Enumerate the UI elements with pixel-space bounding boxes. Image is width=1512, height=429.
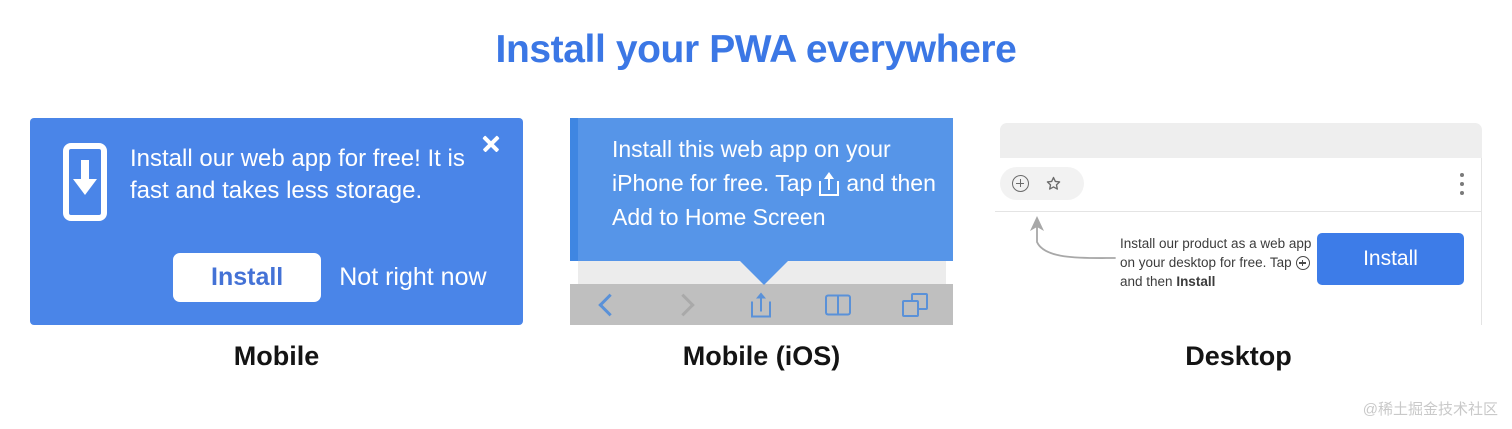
plus-circle-icon[interactable] [1012, 175, 1029, 192]
ios-tooltip: Install this web app on your iPhone for … [570, 118, 953, 261]
phone-download-icon [57, 143, 113, 227]
desktop-install-prompt: Install our product as a web app on your… [995, 212, 1482, 325]
page-title: Install your PWA everywhere [0, 28, 1512, 72]
curved-arrow-icon [1015, 214, 1120, 274]
mobile-banner-message: Install our web app for free! It is fast… [130, 143, 490, 207]
desktop-prompt-text-part2: and then [1120, 274, 1176, 289]
desktop-prompt-text: Install our product as a web app on your… [1120, 234, 1320, 291]
ios-gap-right [946, 261, 953, 284]
mobile-banner-actions: Install Not right now [173, 253, 487, 302]
forward-icon [647, 284, 724, 325]
ios-install-tooltip-card: Install this web app on your iPhone for … [570, 118, 953, 325]
share-icon [819, 172, 839, 196]
plus-circle-icon [1296, 256, 1310, 270]
caption-desktop: Desktop [995, 341, 1482, 372]
browser-toolbar [995, 158, 1482, 212]
tooltip-pointer-icon [740, 261, 788, 285]
caption-mobile: Mobile [30, 341, 523, 372]
ios-tooltip-edge [570, 118, 578, 261]
tabs-icon[interactable] [876, 284, 953, 325]
star-icon[interactable] [1045, 175, 1062, 192]
ios-gap-left [570, 261, 578, 284]
caption-mobile-ios: Mobile (iOS) [570, 341, 953, 372]
desktop-install-card: Install our product as a web app on your… [995, 118, 1482, 325]
bookmarks-icon[interactable] [800, 284, 877, 325]
install-button[interactable]: Install [1317, 233, 1464, 285]
share-icon[interactable] [723, 284, 800, 325]
desktop-prompt-text-bold: Install [1176, 274, 1215, 289]
ios-safari-toolbar [570, 284, 953, 325]
three-dot-menu-icon[interactable] [1460, 173, 1464, 195]
back-icon[interactable] [570, 284, 647, 325]
not-right-now-button[interactable]: Not right now [339, 263, 486, 292]
install-button[interactable]: Install [173, 253, 321, 302]
omnibox-actions-pill [1000, 167, 1084, 200]
watermark: @稀土掘金技术社区 [1363, 398, 1498, 419]
desktop-prompt-text-part1: Install our product as a web app on your… [1120, 236, 1311, 270]
ios-tooltip-text: Install this web app on your iPhone for … [612, 132, 942, 234]
cards-row: Install our web app for free! It is fast… [0, 118, 1512, 328]
captions-row: Mobile Mobile (iOS) Desktop [0, 341, 1512, 381]
mobile-install-banner: Install our web app for free! It is fast… [30, 118, 523, 325]
browser-tab-strip [1000, 123, 1482, 158]
